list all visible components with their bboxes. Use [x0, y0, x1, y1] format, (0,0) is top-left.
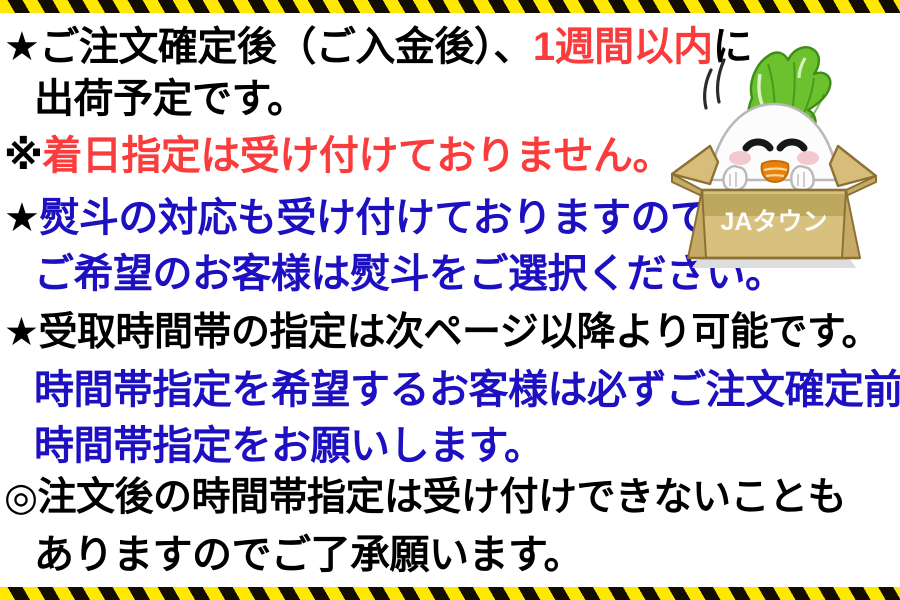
- motion-lines-icon: [705, 60, 724, 108]
- hazard-stripe-top: [0, 0, 900, 13]
- line-4-segment-2: 熨斗の対応も受け付けておりますので、: [39, 196, 747, 240]
- line-6-segment-1: ★受取時間帯の指定は次ページ以降より可能です。: [4, 311, 880, 354]
- notice-line-10: ありますのでご了承願います。: [34, 535, 583, 575]
- notice-line-1: ★ご注文確定後（ご入金後）、1週間以内に: [4, 27, 752, 67]
- line-3-segment-1: ※: [4, 134, 42, 178]
- notice-line-3: ※着日指定は受け付けておりません。: [4, 136, 672, 176]
- line-9-segment-1: ◎注文後の時間帯指定は受け付けできないことも: [4, 476, 846, 519]
- line-4-segment-1: ★: [4, 196, 39, 240]
- blush-left: [729, 151, 751, 165]
- notice-line-2: 出荷予定です。: [34, 79, 307, 119]
- line-3-segment-2: 着日指定は受け付けておりません。: [42, 134, 672, 178]
- notice-line-8: 時間帯指定をお願いします。: [34, 426, 544, 466]
- line-7-segment-1: 時間帯指定を希望するお客様は必ずご注文確定前に: [34, 368, 900, 412]
- hazard-stripe-bottom: [0, 587, 900, 600]
- notice-line-6: ★受取時間帯の指定は次ページ以降より可能です。: [4, 313, 880, 353]
- notice-line-4: ★熨斗の対応も受け付けておりますので、: [4, 198, 748, 238]
- notice-line-9: ◎注文後の時間帯指定は受け付けできないことも: [4, 478, 846, 518]
- blush-right: [797, 151, 819, 165]
- box-label-text: JAタウン: [721, 208, 828, 236]
- shipping-notice-banner: ★ご注文確定後（ご入金後）、1週間以内に 出荷予定です。 ※着日指定は受け付けて…: [0, 0, 900, 600]
- line-8-segment-1: 時間帯指定をお願いします。: [34, 424, 544, 468]
- notice-line-7: 時間帯指定を希望するお客様は必ずご注文確定前に: [34, 370, 900, 410]
- line-10-segment-1: ありますのでご了承願います。: [34, 533, 583, 577]
- line-1-segment-1: ★ご注文確定後（ご入金後）、: [4, 25, 533, 69]
- mouth: [762, 161, 789, 182]
- cardboard-box: JAタウン: [672, 174, 876, 268]
- daikon-mascot-in-box-illustration: JAタウン: [648, 34, 900, 286]
- line-2-segment-1: 出荷予定です。: [34, 77, 307, 121]
